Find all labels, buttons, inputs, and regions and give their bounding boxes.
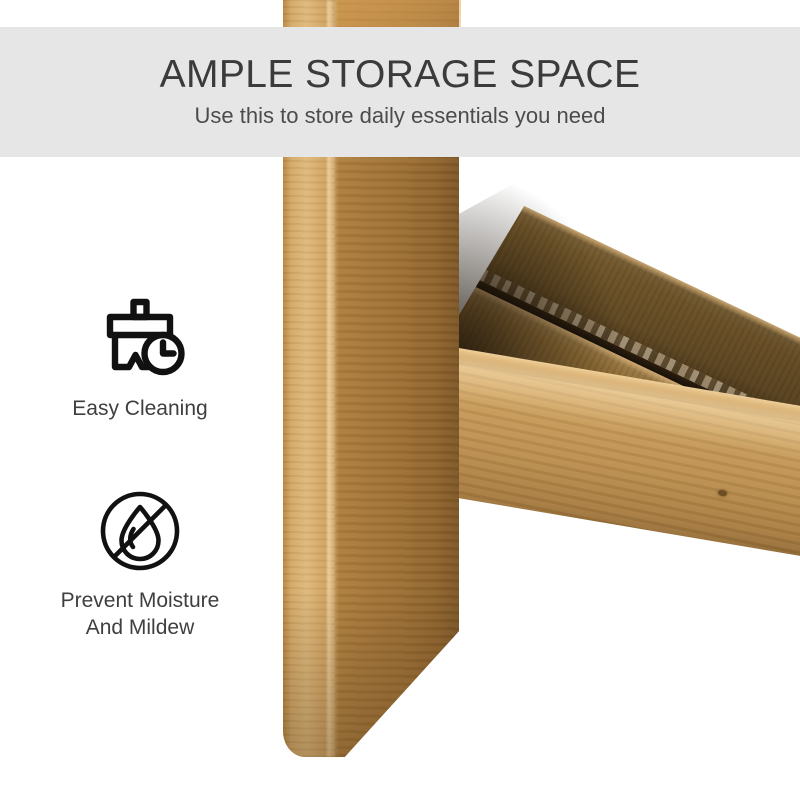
feature-prevent-moisture: Prevent Moisture And Mildew [8,490,272,642]
no-water-drop-icon [99,490,181,572]
feature-caption: Easy Cleaning [72,396,207,423]
feature-easy-cleaning: Easy Cleaning [8,296,272,423]
headline-banner: AMPLE STORAGE SPACE Use this to store da… [0,27,800,157]
page-title: AMPLE STORAGE SPACE [160,55,641,94]
feature-caption: Prevent Moisture And Mildew [61,588,220,642]
product-feature-image: AMPLE STORAGE SPACE Use this to store da… [0,0,800,800]
page-subtitle: Use this to store daily essentials you n… [195,104,606,128]
broom-clock-icon [92,296,188,380]
